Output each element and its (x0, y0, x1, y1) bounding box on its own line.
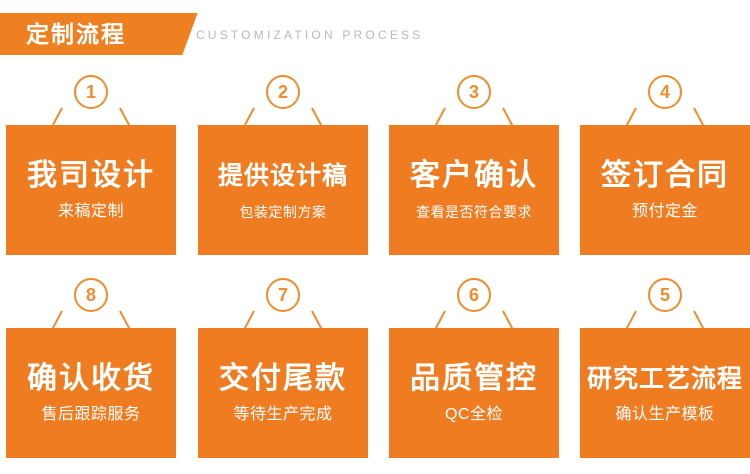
step-number-wrap: 2 (198, 75, 368, 129)
process-step-2: 2 提供设计稿 包装定制方案 (198, 75, 368, 255)
step-number-wrap: 4 (580, 75, 750, 129)
step-card: 品质管控 QC全检 (389, 328, 559, 458)
step-title: 交付尾款 (219, 361, 347, 397)
step-title: 签订合同 (601, 158, 729, 194)
step-title: 客户确认 (410, 158, 538, 194)
process-step-3: 3 客户确认 查看是否符合要求 (389, 75, 559, 255)
step-number-badge: 7 (266, 278, 300, 312)
process-step-8: 8 确认收货 售后跟踪服务 (6, 278, 176, 458)
step-card: 交付尾款 等待生产完成 (198, 328, 368, 458)
step-number-badge: 6 (457, 278, 491, 312)
step-number-badge: 5 (648, 278, 682, 312)
process-step-6: 6 品质管控 QC全检 (389, 278, 559, 458)
process-step-1: 1 我司设计 来稿定制 (6, 75, 176, 255)
step-title: 我司设计 (27, 158, 155, 194)
step-number-wrap: 3 (389, 75, 559, 129)
customization-process-infographic: 定制流程 CUSTOMIZATION PROCESS 1 我司设计 来稿定制 2… (0, 0, 750, 474)
step-number-badge: 1 (74, 75, 108, 109)
process-row-top: 1 我司设计 来稿定制 2 提供设计稿 包装定制方案 3 (0, 75, 750, 255)
step-subtitle: 包装定制方案 (240, 202, 327, 222)
step-number-badge: 4 (648, 75, 682, 109)
process-step-5: 5 研究工艺流程 确认生产模板 (580, 278, 750, 458)
step-title: 品质管控 (410, 361, 538, 397)
step-number-wrap: 5 (580, 278, 750, 332)
step-card: 确认收货 售后跟踪服务 (6, 328, 176, 458)
page-subtitle: CUSTOMIZATION PROCESS (196, 28, 423, 42)
step-number-wrap: 7 (198, 278, 368, 332)
step-subtitle: QC全检 (445, 405, 503, 425)
step-title: 研究工艺流程 (587, 361, 743, 397)
step-number-badge: 8 (74, 278, 108, 312)
step-card: 签订合同 预付定金 (580, 125, 750, 255)
step-number-wrap: 1 (6, 75, 176, 129)
step-subtitle: 来稿定制 (58, 202, 124, 222)
step-card: 客户确认 查看是否符合要求 (389, 125, 559, 255)
process-row-bottom: 8 确认收货 售后跟踪服务 7 交付尾款 等待生产完成 6 (0, 278, 750, 458)
step-subtitle: 查看是否符合要求 (416, 202, 532, 222)
step-subtitle: 预付定金 (632, 202, 698, 222)
step-number-wrap: 8 (6, 278, 176, 332)
step-card: 我司设计 来稿定制 (6, 125, 176, 255)
process-step-7: 7 交付尾款 等待生产完成 (198, 278, 368, 458)
process-step-4: 4 签订合同 预付定金 (580, 75, 750, 255)
step-subtitle: 等待生产完成 (233, 405, 332, 425)
step-number-badge: 2 (266, 75, 300, 109)
page-title: 定制流程 (26, 22, 126, 46)
step-number-badge: 3 (457, 75, 491, 109)
step-number-wrap: 6 (389, 278, 559, 332)
step-card: 提供设计稿 包装定制方案 (198, 125, 368, 255)
header: 定制流程 CUSTOMIZATION PROCESS (0, 13, 750, 55)
step-title: 确认收货 (27, 361, 155, 397)
step-title: 提供设计稿 (218, 158, 348, 194)
step-card: 研究工艺流程 确认生产模板 (580, 328, 750, 458)
step-subtitle: 售后跟踪服务 (41, 405, 140, 425)
step-subtitle: 确认生产模板 (615, 405, 714, 425)
